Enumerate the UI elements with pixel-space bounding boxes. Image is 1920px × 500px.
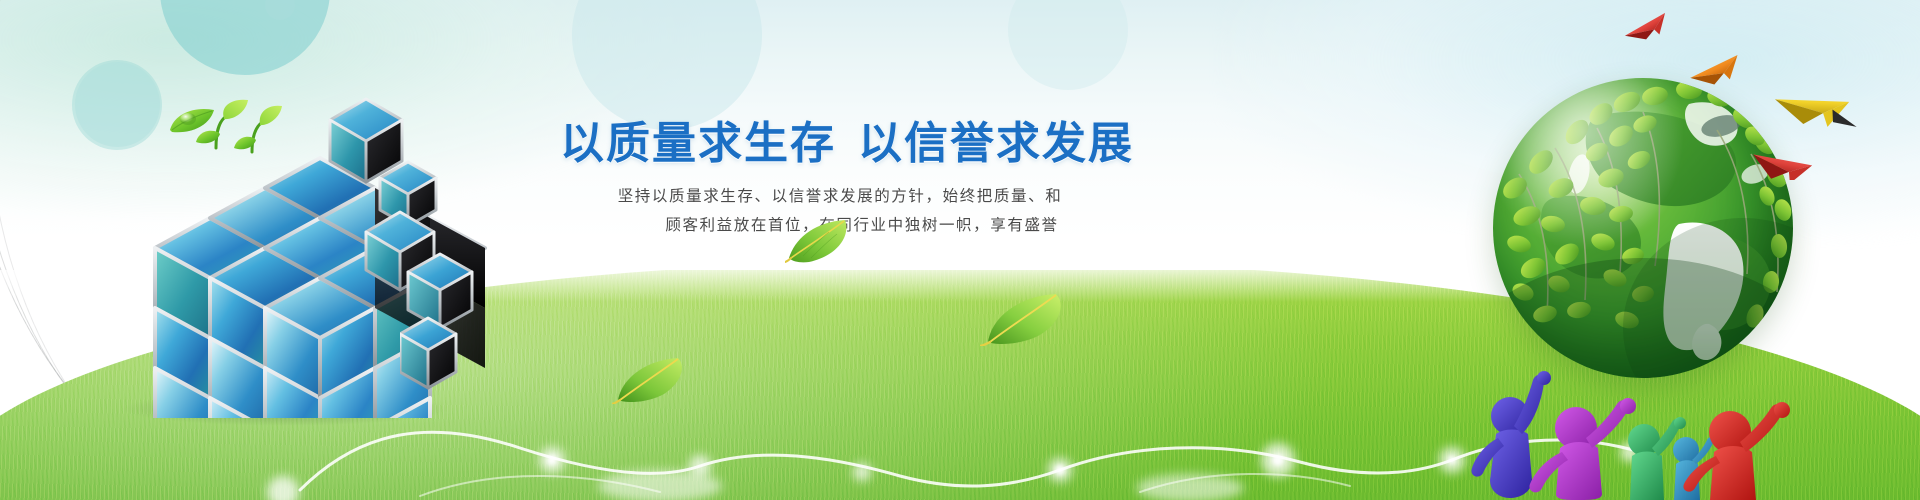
sprout-icon: [168, 96, 298, 156]
headline-part-2: 以信誉求发展: [858, 118, 1134, 169]
subtitle-line-1: 坚持以质量求生存、以信誉求发展的方针，始终把质量、和: [560, 182, 1120, 211]
page-title: 以质量求生存以信誉求发展: [560, 118, 1120, 170]
paper-airplanes: [1600, 0, 1920, 180]
promotional-banner: 以质量求生存以信誉求发展 坚持以质量求生存、以信誉求发展的方针，始终把质量、和 …: [0, 0, 1920, 500]
floating-leaf-icon: [980, 288, 1070, 346]
floating-leaf-icon: [612, 352, 692, 404]
detached-earth-cubes-lower: [400, 250, 530, 420]
decorative-circle: [1008, 0, 1128, 90]
people-holding-hands: [1448, 330, 1808, 500]
headline-part-1: 以质量求生存: [560, 118, 836, 169]
floating-leaf-icon: [785, 218, 855, 264]
